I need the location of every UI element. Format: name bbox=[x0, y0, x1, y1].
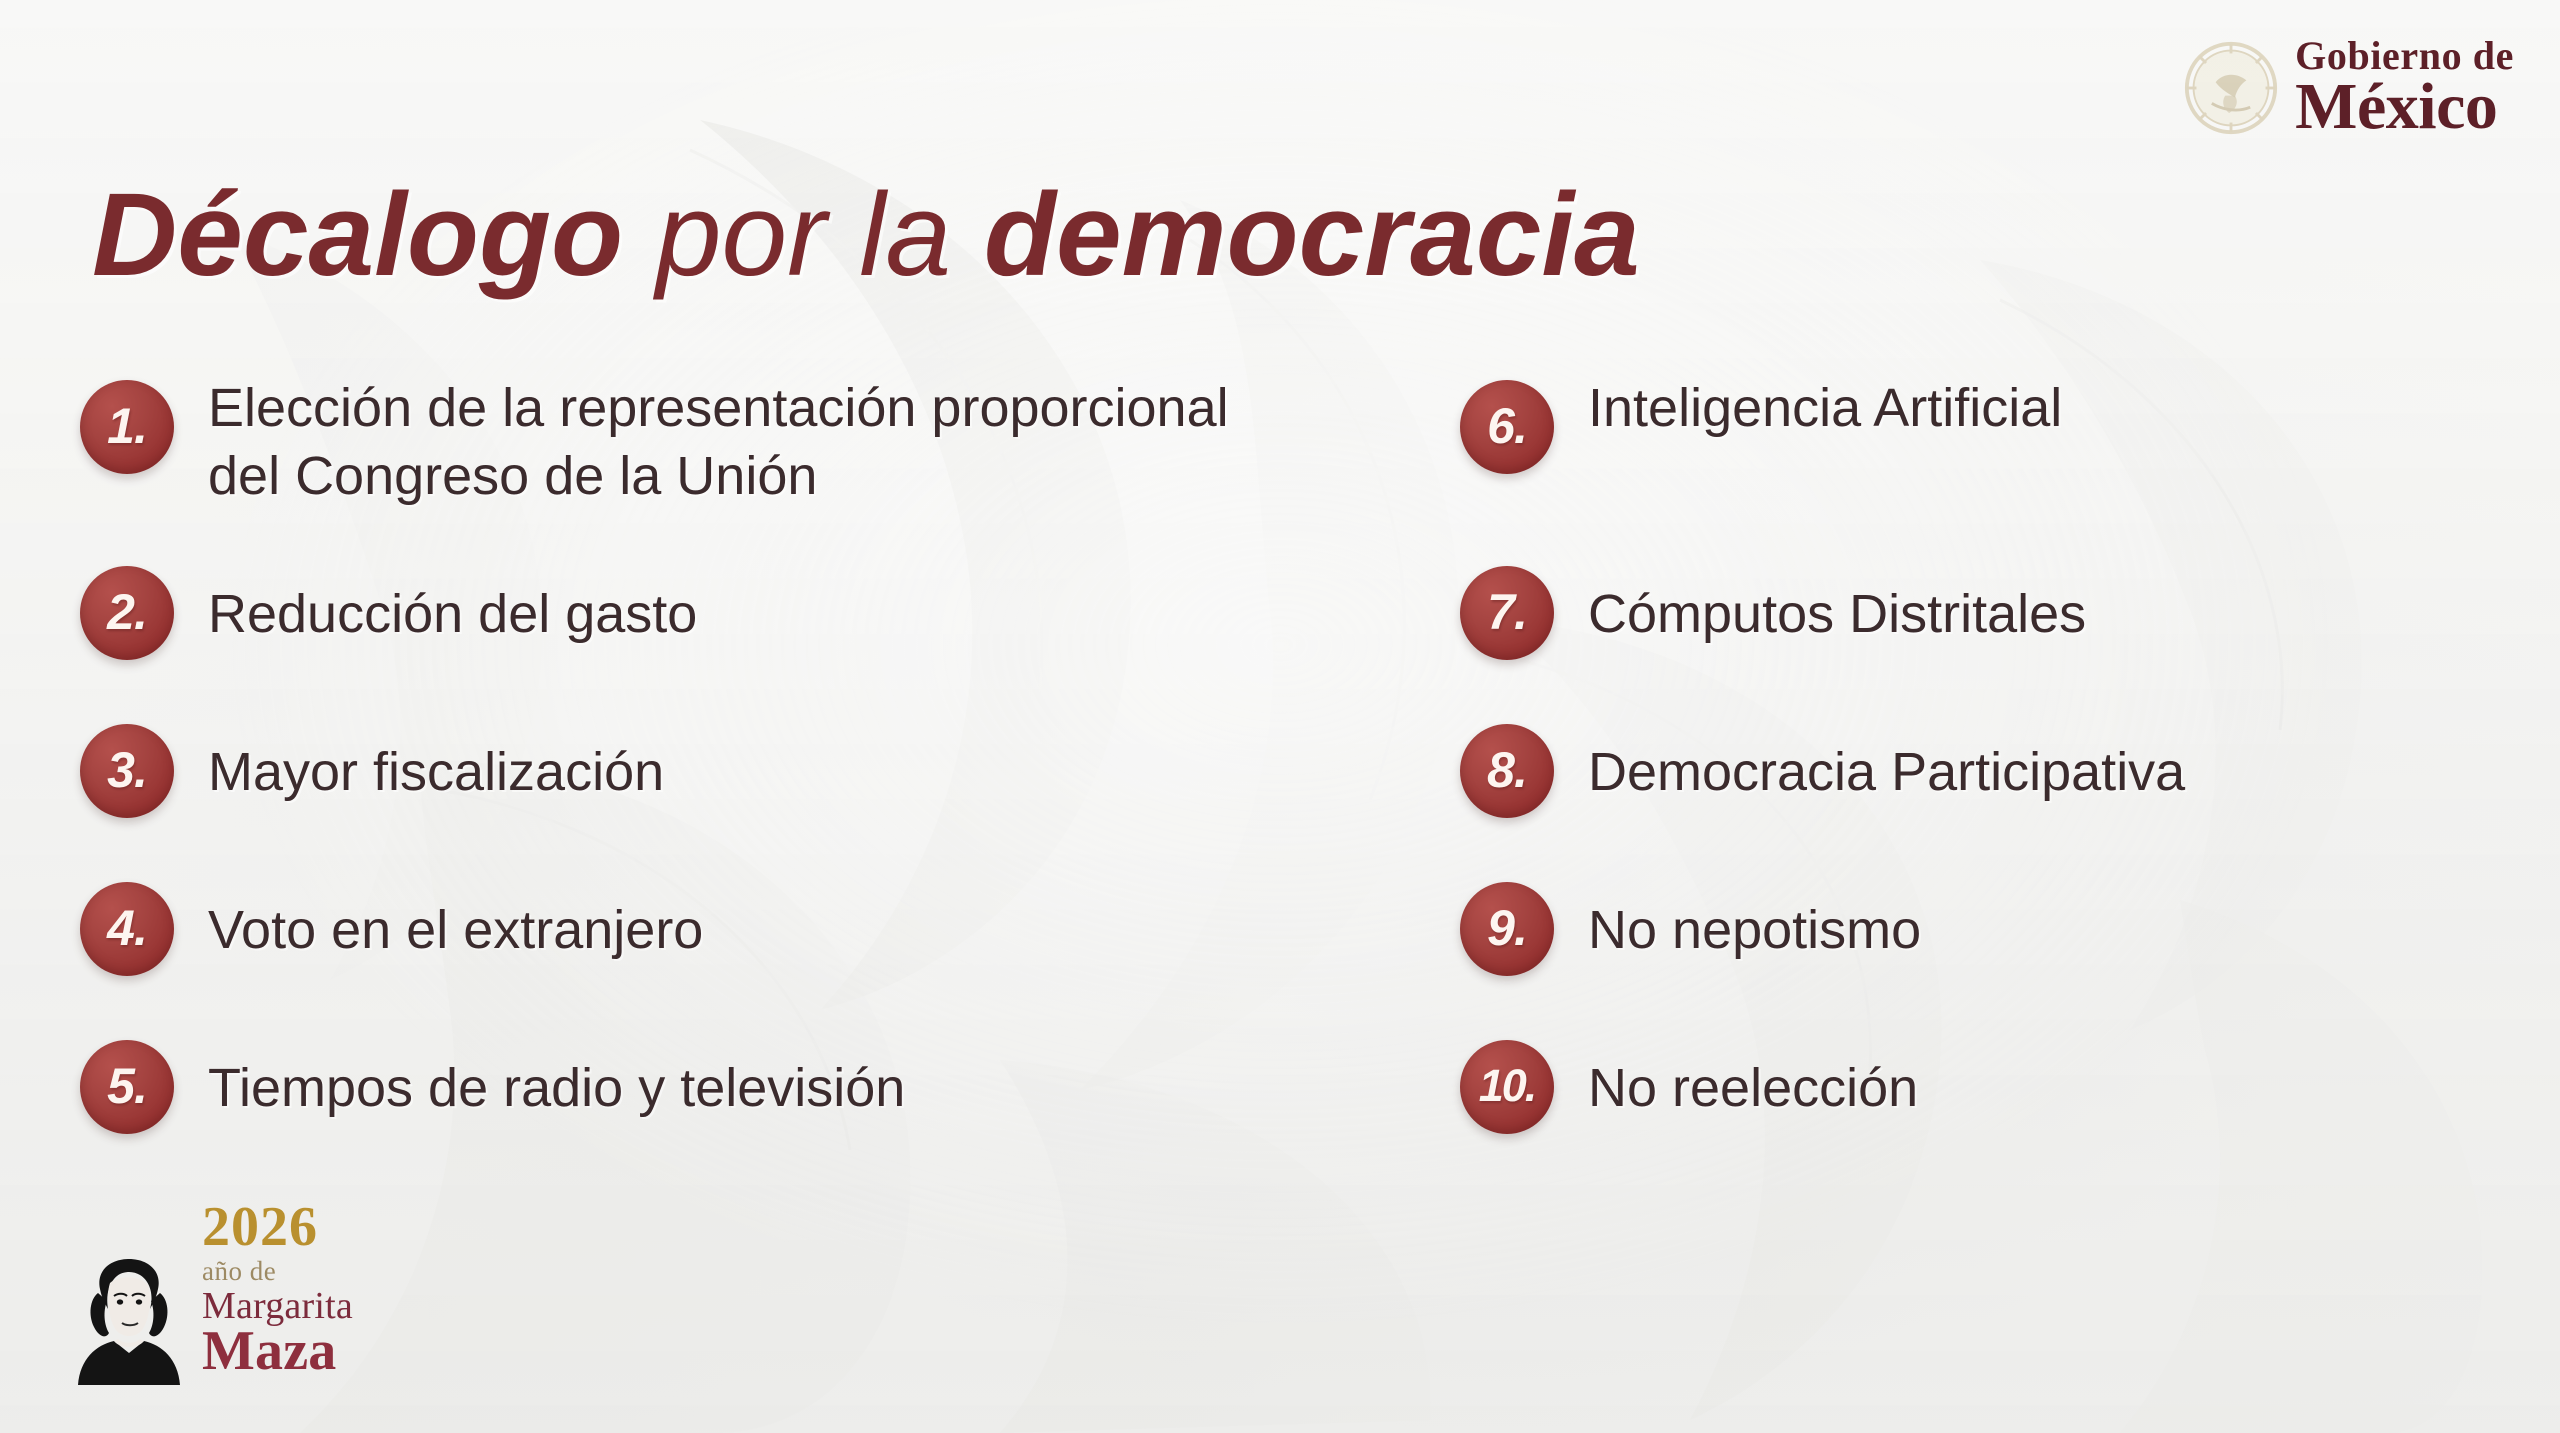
year-badge-text: 2026 año de Margarita Maza bbox=[202, 1199, 353, 1385]
item-number: 4. bbox=[107, 899, 147, 957]
presentation-slide: Gobierno de México Décalogo por la democ… bbox=[0, 0, 2560, 1433]
item-number: 3. bbox=[107, 741, 147, 799]
item-text-line1: Voto en el extranjero bbox=[208, 900, 703, 960]
item-number-badge: 4. bbox=[80, 882, 174, 976]
item-number: 8. bbox=[1487, 741, 1527, 799]
item-number-badge: 1. bbox=[80, 380, 174, 474]
item-text-line2: del Congreso de la Unión bbox=[208, 442, 1229, 510]
item-number-badge: 10. bbox=[1460, 1040, 1554, 1134]
item-text: Cómputos Distritales bbox=[1588, 566, 2086, 648]
year-subtitle: año de bbox=[202, 1258, 276, 1285]
item-number-badge: 3. bbox=[80, 724, 174, 818]
item-text-line1: Inteligencia Artificial bbox=[1588, 378, 2062, 438]
item-text: Reducción del gasto bbox=[208, 566, 697, 648]
year-number: 2026 bbox=[202, 1199, 318, 1255]
page-title: Décalogo por la democracia bbox=[92, 175, 1640, 295]
list-item: 4. Voto en el extranjero bbox=[80, 882, 1460, 1040]
item-text-line1: Reducción del gasto bbox=[208, 584, 697, 644]
item-number: 6. bbox=[1487, 397, 1527, 455]
gobierno-de-mexico-logo: Gobierno de México bbox=[2183, 38, 2514, 138]
item-text-line1: Tiempos de radio y televisión bbox=[208, 1058, 905, 1118]
year-2026-margarita-maza-logo: 2026 año de Margarita Maza bbox=[70, 1199, 353, 1385]
mexican-eagle-seal-icon bbox=[2183, 40, 2279, 136]
gobierno-logo-text: Gobierno de México bbox=[2295, 38, 2514, 138]
item-text: Democracia Participativa bbox=[1588, 724, 2185, 806]
item-text-line1: Mayor fiscalización bbox=[208, 742, 664, 802]
logo-line-mexico: México bbox=[2295, 77, 2497, 138]
list-item: 10. No reelección bbox=[1460, 1040, 2560, 1198]
list-item: 1. Elección de la representación proporc… bbox=[80, 360, 1460, 566]
item-number-badge: 7. bbox=[1460, 566, 1554, 660]
item-text: Elección de la representación proporcion… bbox=[208, 360, 1229, 510]
item-text-line1: Democracia Participativa bbox=[1588, 742, 2185, 802]
list-item: 2. Reducción del gasto bbox=[80, 566, 1460, 724]
list-item: 7. Cómputos Distritales bbox=[1460, 566, 2560, 724]
item-text-line1: Cómputos Distritales bbox=[1588, 584, 2086, 644]
item-text: Tiempos de radio y televisión bbox=[208, 1040, 905, 1122]
title-part-democracia: democracia bbox=[984, 169, 1640, 301]
item-text: No nepotismo bbox=[1588, 882, 1921, 964]
item-number: 2. bbox=[107, 583, 147, 641]
decalogo-right-column: 6. Inteligencia Artificial 7. Cómputos D… bbox=[1460, 360, 2560, 1198]
item-number-badge: 9. bbox=[1460, 882, 1554, 976]
item-number: 10. bbox=[1479, 1060, 1536, 1112]
list-item: 8. Democracia Participativa bbox=[1460, 724, 2560, 882]
item-number: 9. bbox=[1487, 899, 1527, 957]
item-number-badge: 5. bbox=[80, 1040, 174, 1134]
list-item: 3. Mayor fiscalización bbox=[80, 724, 1460, 882]
item-text-line1: Elección de la representación proporcion… bbox=[208, 378, 1229, 438]
item-text: Inteligencia Artificial bbox=[1588, 360, 2062, 442]
item-number: 1. bbox=[107, 397, 147, 455]
item-number: 5. bbox=[107, 1057, 147, 1115]
item-text: Voto en el extranjero bbox=[208, 882, 703, 964]
item-text: No reelección bbox=[1588, 1040, 1918, 1122]
title-part-decalogo: Décalogo bbox=[92, 169, 623, 301]
margarita-maza-portrait-icon bbox=[70, 1253, 188, 1385]
item-number: 7. bbox=[1487, 583, 1527, 641]
list-item: 5. Tiempos de radio y televisión bbox=[80, 1040, 1460, 1198]
item-text-line1: No reelección bbox=[1588, 1058, 1918, 1118]
item-number-badge: 8. bbox=[1460, 724, 1554, 818]
decalogo-list: 1. Elección de la representación proporc… bbox=[0, 360, 2560, 1198]
item-text: Mayor fiscalización bbox=[208, 724, 664, 806]
list-item: 9. No nepotismo bbox=[1460, 882, 2560, 1040]
item-text-line1: No nepotismo bbox=[1588, 900, 1921, 960]
list-item: 6. Inteligencia Artificial bbox=[1460, 360, 2560, 566]
item-number-badge: 6. bbox=[1460, 380, 1554, 474]
title-part-porla: por la bbox=[623, 169, 984, 301]
item-number-badge: 2. bbox=[80, 566, 174, 660]
decalogo-left-column: 1. Elección de la representación proporc… bbox=[0, 360, 1460, 1198]
year-name-last: Maza bbox=[202, 1323, 337, 1379]
